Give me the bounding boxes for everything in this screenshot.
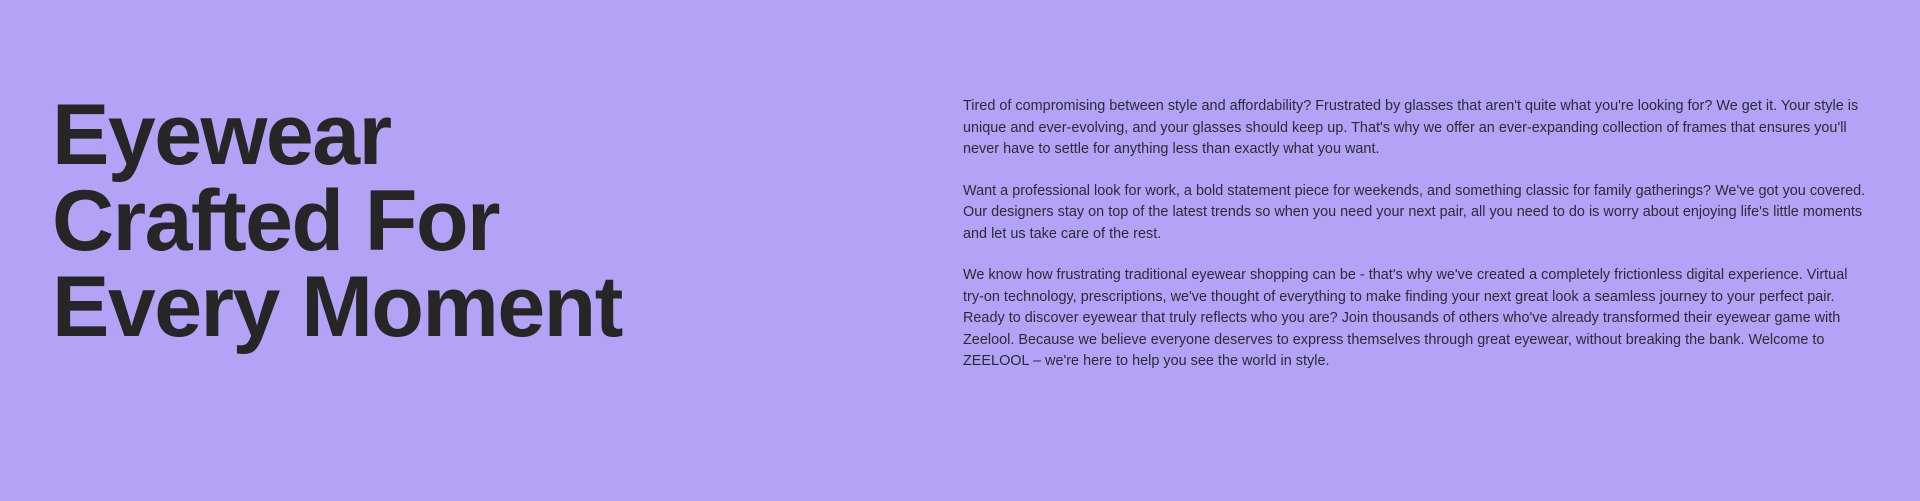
- hero-section: Eyewear Crafted For Every Moment Tired o…: [0, 0, 1920, 501]
- hero-description: Tired of compromising between style and …: [963, 96, 1868, 373]
- hero-paragraph-3: We know how frustrating traditional eyew…: [963, 265, 1868, 373]
- hero-paragraph-1: Tired of compromising between style and …: [963, 96, 1868, 161]
- hero-paragraph-2: Want a professional look for work, a bol…: [963, 181, 1868, 246]
- page-title: Eyewear Crafted For Every Moment: [52, 92, 752, 350]
